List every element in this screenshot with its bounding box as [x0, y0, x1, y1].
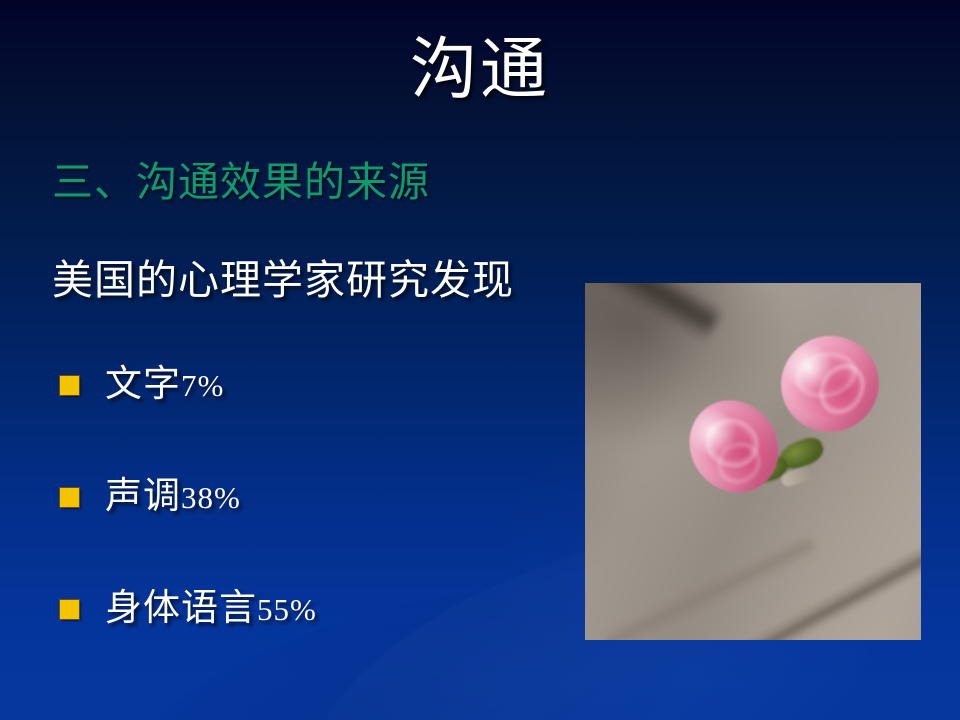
presentation-slide: 沟通 三、沟通效果的来源 美国的心理学家研究发现 文字7% 声调38% 身体语言…	[0, 0, 960, 720]
list-item: 声调38%	[52, 462, 592, 534]
square-bullet-icon	[60, 600, 79, 619]
lead-statement: 美国的心理学家研究发现	[52, 258, 592, 304]
section-subheading: 三、沟通效果的来源	[52, 160, 592, 206]
bullet-item-percent: 55%	[257, 592, 317, 627]
plum-blossom-buds-photo	[585, 283, 921, 640]
bullet-item-percent: 7%	[181, 368, 224, 403]
list-item: 身体语言55%	[52, 574, 592, 646]
slide-body-column: 三、沟通效果的来源 美国的心理学家研究发现 文字7% 声调38% 身体语言55%	[52, 160, 592, 686]
bullet-list: 文字7% 声调38% 身体语言55%	[52, 350, 592, 646]
bullet-item-text: 文字7%	[105, 365, 224, 406]
bullet-item-percent: 38%	[181, 480, 241, 515]
square-bullet-icon	[60, 376, 79, 395]
bullet-item-label: 声调	[105, 476, 181, 517]
list-item: 文字7%	[52, 350, 592, 422]
slide-title: 沟通	[0, 34, 960, 106]
bullet-item-label: 文字	[105, 364, 181, 405]
square-bullet-icon	[60, 488, 79, 507]
bullet-item-text: 身体语言55%	[105, 589, 317, 630]
bullet-item-text: 声调38%	[105, 477, 241, 518]
bullet-item-label: 身体语言	[105, 588, 257, 629]
